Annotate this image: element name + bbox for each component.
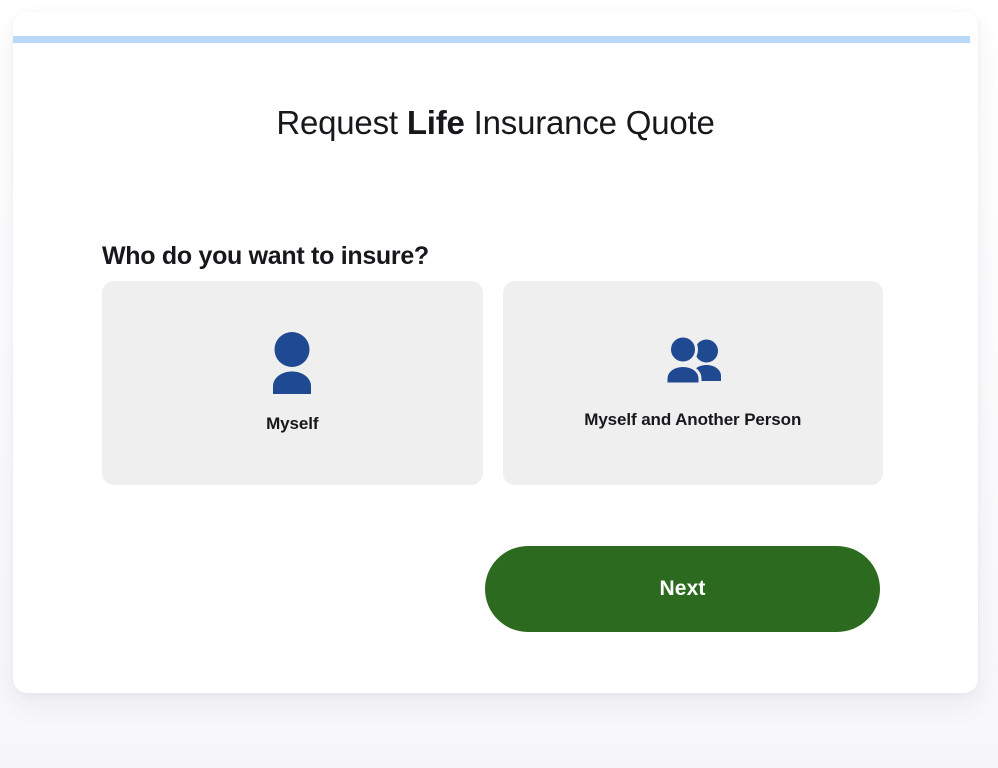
insure-who-options: Myself Myself and Another Person xyxy=(102,281,883,485)
option-label-myself-and-another: Myself and Another Person xyxy=(584,410,801,430)
option-card-myself-and-another[interactable]: Myself and Another Person xyxy=(503,281,884,485)
quote-form-panel: Request Life Insurance Quote Who do you … xyxy=(13,12,978,693)
single-person-icon xyxy=(264,332,320,394)
page-title: Request Life Insurance Quote xyxy=(13,104,978,142)
option-label-myself: Myself xyxy=(266,414,318,434)
page-title-prefix: Request xyxy=(276,104,406,141)
question-label: Who do you want to insure? xyxy=(102,242,429,271)
next-button[interactable]: Next xyxy=(485,546,880,632)
two-people-icon xyxy=(662,336,724,384)
option-card-myself[interactable]: Myself xyxy=(102,281,483,485)
progress-bar xyxy=(13,36,970,43)
page-title-suffix: Insurance Quote xyxy=(465,104,715,141)
page-title-emphasis: Life xyxy=(407,104,465,141)
